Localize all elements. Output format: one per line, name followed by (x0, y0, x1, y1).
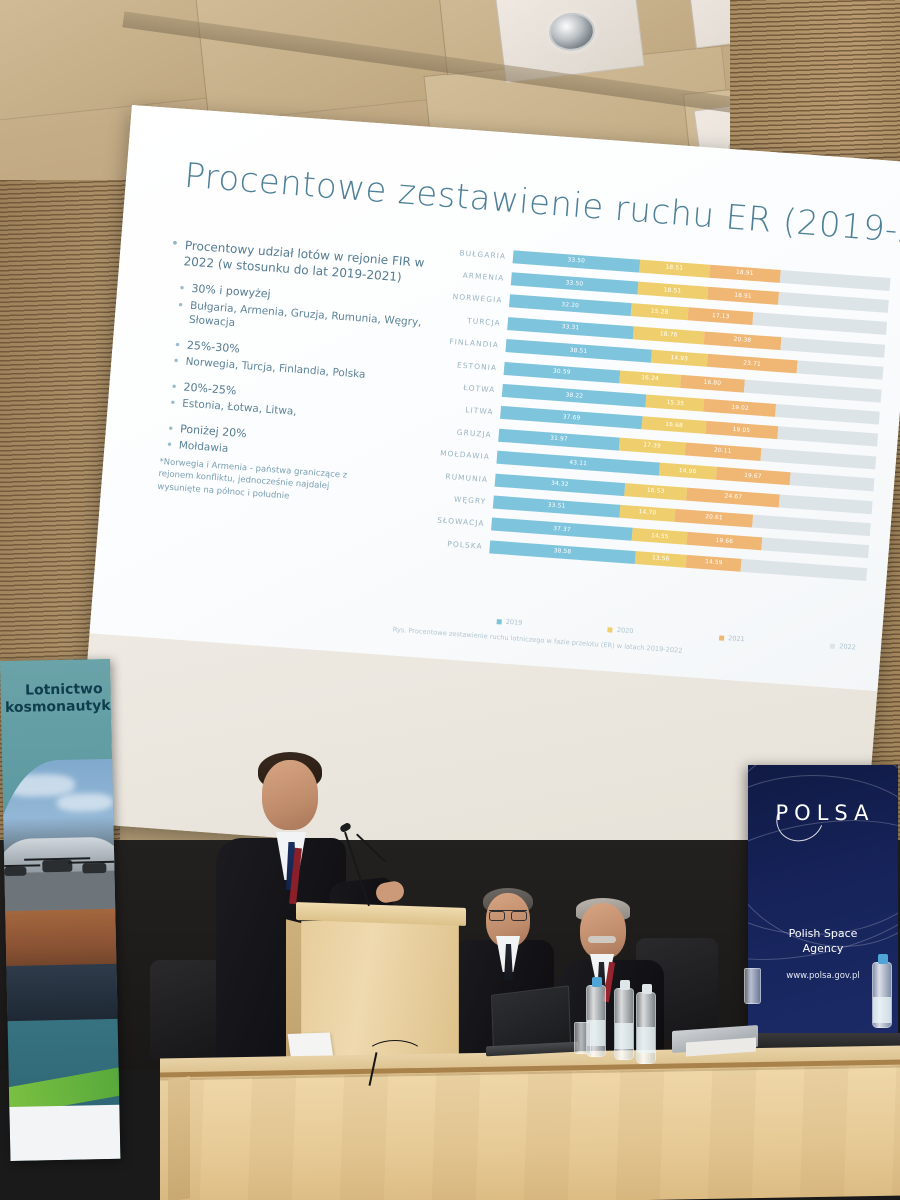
chart-segment-2021: 24.67 (686, 487, 780, 507)
stacked-bar-chart: BUŁGARIA33.5018.5118.91ARMENIA33.5018.51… (390, 239, 891, 672)
downlight-icon (547, 10, 597, 53)
chart-segment-2021: 16.80 (680, 375, 744, 393)
chart-segment-2020: 17.39 (619, 437, 686, 455)
legend-label: 2020 (617, 626, 634, 635)
banner-left-footer (9, 1105, 120, 1161)
legend-item-2020: 2020 (608, 625, 634, 635)
polsa-logo: POLSA (764, 801, 886, 825)
slide-bullet-list: Procentowy udział lotów w rejonie FIR w … (151, 236, 433, 481)
chart-segment-2020: 16.53 (624, 483, 687, 501)
presentation-slide: Procentowe zestawienie ruchu ER (2019-20… (89, 105, 900, 691)
glasses-icon (489, 910, 527, 918)
banner-lotnictwo-kosmonautyka: Lotnictwo kosmonautyka (0, 659, 120, 1161)
chart-segment-2020: 16.24 (619, 370, 681, 387)
chart-segment-2022 (777, 427, 878, 447)
polsa-subtitle-line1: Polish Space (789, 927, 858, 940)
legend-label: 2021 (728, 634, 745, 643)
chart-segment-2022 (761, 538, 869, 559)
legend-swatch-icon (497, 619, 502, 624)
chart-category-label: TURCJA (416, 312, 508, 328)
chart-category-label: LITWA (408, 402, 500, 418)
chart-segment-2022 (789, 472, 874, 491)
chart-segment-2022 (779, 494, 872, 514)
chart-category-label: ESTONIA (412, 357, 504, 373)
chart-segment-2021: 20.61 (675, 509, 754, 528)
chart-segment-2022 (741, 559, 867, 581)
drinking-glass (574, 1022, 591, 1054)
chart-category-label: MOŁDAWIA (405, 446, 497, 462)
chart-segment-2021: 19.66 (687, 532, 762, 550)
legend-swatch-icon (719, 635, 724, 640)
chart-segment-2022 (778, 292, 889, 313)
chart-segment-2022 (780, 270, 891, 291)
water-bottle (872, 962, 892, 1028)
chart-segment-2020: 14.93 (651, 350, 708, 367)
banner-left-title: Lotnictwo kosmonautyka (4, 681, 109, 716)
chart-segment-2020: 15.35 (646, 395, 705, 412)
bullet-lead: Procentowy udział lotów w rejonie FIR w … (167, 236, 434, 288)
legend-label: 2022 (839, 642, 856, 651)
chart-segment-2021: 19.02 (704, 399, 777, 417)
speaker-head (262, 760, 318, 830)
chart-segment-2021: 14.59 (686, 555, 742, 572)
banner-left-title-line2: kosmonautyka (5, 697, 120, 715)
chart-segment-2022 (780, 337, 885, 358)
chart-category-label: ARMENIA (419, 268, 511, 284)
bullet-group: 20%-25% Estonia, Łotwa, Litwa, (156, 378, 423, 428)
bullet-group: 30% i powyżej Bułgaria, Armenia, Gruzja,… (162, 280, 430, 344)
chart-segment-2020: 14.96 (659, 463, 716, 480)
legend-swatch-icon (830, 643, 835, 648)
legend-swatch-icon (608, 627, 613, 632)
legend-label: 2019 (505, 618, 522, 627)
chart-segment-2021: 19.05 (705, 421, 778, 439)
bullet-group: 25%-30% Norwegia, Turcja, Finlandia, Pol… (159, 336, 426, 386)
chart-category-label: WĘGRY (401, 491, 493, 507)
legend-item-2019: 2019 (496, 617, 522, 627)
chart-segment-2020: 16.68 (642, 417, 706, 435)
chart-segment-2020: 14.55 (632, 528, 688, 545)
chart-segment-2022 (796, 361, 883, 380)
chart-segment-2020: 13.56 (635, 551, 687, 568)
chart-segment-2020: 18.51 (637, 282, 708, 300)
chart-category-label: ŁOTWA (410, 379, 502, 395)
chart-segment-2022 (775, 404, 879, 425)
legend-item-2021: 2021 (719, 633, 745, 643)
chart-segment-2021: 17.13 (688, 308, 754, 326)
chart-segment-2021: 19.67 (715, 467, 790, 485)
conference-photo-scene: Procentowe zestawienie ruchu ER (2019-20… (0, 0, 900, 1200)
chart-segment-2020: 15.28 (630, 304, 689, 321)
chart-category-label: SŁOWACJA (399, 513, 491, 529)
chart-segment-2021: 20.11 (684, 442, 761, 461)
panelist2-head (580, 903, 626, 959)
chart-segment-2019: 38.58 (489, 540, 635, 564)
chart-segment-2020: 18.51 (639, 259, 710, 277)
chart-rows: BUŁGARIA33.5018.5118.91ARMENIA33.5018.51… (397, 239, 891, 586)
polsa-subtitle: Polish Space Agency (748, 927, 898, 957)
polsa-subtitle-line2: Agency (803, 942, 844, 955)
table-left-face (168, 1076, 190, 1200)
chart-category-label: RUMUNIA (403, 468, 495, 484)
water-bottle (636, 992, 656, 1064)
chart-segment-2020: 18.76 (633, 326, 705, 344)
chart-segment-2021: 23.71 (707, 354, 797, 374)
chart-segment-2021: 18.91 (707, 287, 779, 305)
chart-segment-2020: 14.70 (619, 505, 675, 522)
slide-title: Procentowe zestawienie ruchu ER (2019-20… (183, 156, 900, 259)
chart-segment-2021: 20.38 (703, 331, 781, 350)
chart-category-label: GRUZJA (407, 424, 499, 440)
chart-category-label: POLSKA (398, 535, 490, 551)
chart-segment-2021: 18.91 (709, 264, 781, 282)
banner-left-photo (0, 758, 120, 1021)
table-front-panel (160, 1065, 900, 1200)
legend-item-2022: 2022 (830, 642, 856, 652)
water-bottle (614, 988, 634, 1060)
chart-category-label: NORWEGIA (417, 290, 509, 306)
panelist2-moustache (588, 936, 616, 943)
chart-category-label: BUŁGARIA (421, 245, 513, 261)
chart-category-label: FINLANDIA (414, 335, 506, 351)
drinking-glass (744, 968, 761, 1004)
banner-left-title-line1: Lotnictwo (25, 681, 103, 699)
